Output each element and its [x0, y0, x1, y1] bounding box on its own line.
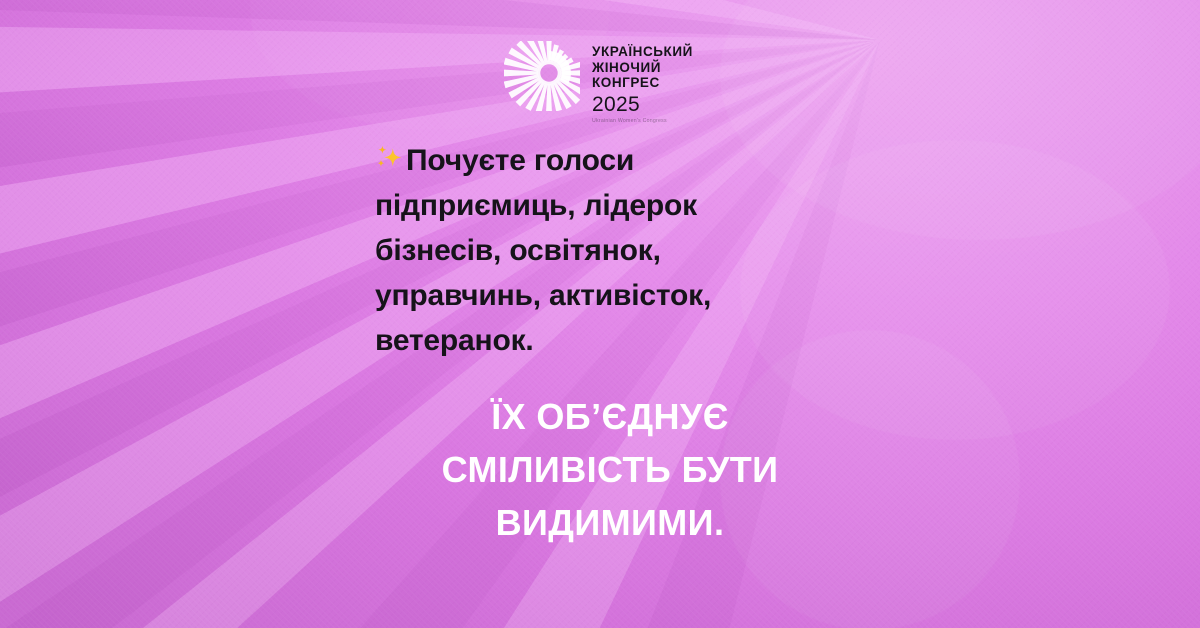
headline: Їх об’єднує сміливість бути видимими. — [330, 390, 890, 549]
headline-line-3: видимими. — [330, 496, 890, 549]
logo-year: 2025 — [592, 93, 693, 117]
sparkles-icon — [375, 143, 405, 173]
promo-banner: УКРАЇНСЬКИЙ ЖІНОЧИЙ КОНГРЕС 2025 Ukraini… — [0, 0, 1200, 628]
body-copy-line-2: підприємиць, лідерок — [375, 189, 697, 222]
body-copy-line-5: ветеранок. — [375, 324, 534, 357]
banner-content: УКРАЇНСЬКИЙ ЖІНОЧИЙ КОНГРЕС 2025 Ukraini… — [0, 0, 1200, 628]
logo-title-line-3: КОНГРЕС — [592, 75, 693, 91]
body-copy-line-1: Почуєте голоси — [406, 144, 634, 177]
body-copy-line-4: управчинь, активісток, — [375, 279, 711, 312]
logo-text-block: УКРАЇНСЬКИЙ ЖІНОЧИЙ КОНГРЕС 2025 Ukraini… — [592, 40, 693, 125]
headline-line-2: сміливість бути — [330, 443, 890, 496]
body-copy-line-3: бізнесів, освітянок, — [375, 234, 661, 267]
logo-subline: Ukrainian Women's Congress — [592, 118, 693, 125]
sunburst-spiral-icon — [504, 41, 580, 111]
logo-lockup: УКРАЇНСЬКИЙ ЖІНОЧИЙ КОНГРЕС 2025 Ukraini… — [504, 40, 693, 125]
logo-title-line-2: ЖІНОЧИЙ — [592, 60, 693, 76]
body-copy: Почуєте голоси підприємиць, лідерок бізн… — [375, 138, 805, 363]
headline-line-1: Їх об’єднує — [330, 390, 890, 443]
logo-title-line-1: УКРАЇНСЬКИЙ — [592, 44, 693, 60]
